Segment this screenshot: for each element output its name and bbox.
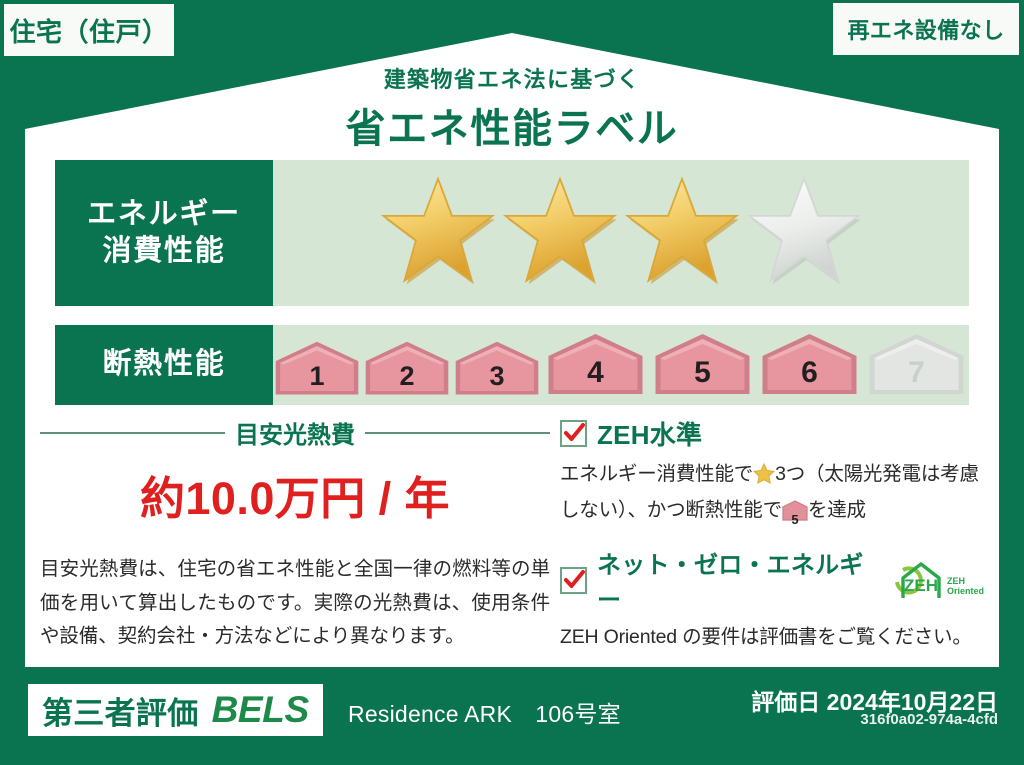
zeh-logo-sub-line2: Oriented [947,587,984,596]
zeh-column: ZEH水準 エネルギー消費性能で 3つ（太陽光発電は考慮しない）、かつ断熱性能で… [560,415,984,660]
checkmark-icon [560,567,587,594]
star-rating [378,173,864,294]
insulation-level-6: 6 [757,332,862,398]
house-level-icon: 5 [782,500,808,532]
insulation-level-7: 7 [864,332,969,398]
insulation-level-number: 6 [757,356,862,390]
energy-performance-label: 住宅（住戸） 再エネ設備なし 建築物省エネ法に基づく 省エネ性能ラベル エネルギ… [0,0,1024,765]
insulation-performance-row: 断熱性能 1234567 [55,325,969,405]
insulation-level-4: 4 [543,332,648,398]
zeh-standard-description: エネルギー消費性能で 3つ（太陽光発電は考慮しない）、かつ断熱性能で 5 を達成 [560,459,984,531]
zeh-desc-part1: エネルギー消費性能で [560,463,753,485]
insulation-level-5: 5 [650,332,755,398]
utility-cost-column: 目安光熱費 約10.0万円 / 年 目安光熱費は、住宅の省エネ性能と全国一律の燃… [40,415,550,654]
building-name: Residence ARK 106号室 [348,695,621,729]
star-icon-filled [622,173,742,294]
insulation-performance-label-key: 断熱性能 [55,325,273,405]
lower-content: 目安光熱費 約10.0万円 / 年 目安光熱費は、住宅の省エネ性能と全国一律の燃… [40,415,984,655]
net-zero-block: ネット・ゼロ・エネルギー ZEH ZEH Oriented [560,545,984,654]
zeh-standard-heading: ZEH水準 [560,415,984,452]
badge-renewable-equipment: 再エネ設備なし [833,3,1019,55]
insulation-level-number: 5 [650,356,755,390]
utility-cost-note: 目安光熱費は、住宅の省エネ性能と全国一律の燃料等の単価を用いて算出したものです。… [40,553,550,654]
insulation-level-number: 7 [864,356,969,390]
heading-rule-left [40,432,225,434]
insulation-level-1: 1 [273,340,361,398]
energy-key-line1: エネルギー [87,196,241,233]
energy-key-line2: 消費性能 [103,233,226,270]
energy-performance-row: エネルギー 消費性能 [55,160,969,306]
subtitle: 建築物省エネ法に基づく [0,62,1024,94]
badge-renewable-label: 再エネ設備なし [847,13,1004,45]
insulation-level-number: 2 [363,361,451,392]
heading-rule-right [365,432,550,434]
zeh-standard-block: ZEH水準 エネルギー消費性能で 3つ（太陽光発電は考慮しない）、かつ断熱性能で… [560,415,984,531]
zeh-oriented-logo: ZEH ZEH Oriented [891,560,984,600]
net-zero-description: ZEH Oriented の要件は評価書をご覧ください。 [560,622,984,654]
zeh-desc-part3: を達成 [808,499,866,521]
insulation-performance-rating: 1234567 [273,325,969,405]
utility-cost-amount: 約10.0万円 / 年 [40,462,550,527]
star-icon-filled [500,173,620,294]
bels-badge: 第三者評価 BELS [28,684,323,736]
energy-performance-label-key: エネルギー 消費性能 [55,160,273,306]
svg-text:ZEH: ZEH [904,576,938,595]
insulation-level-number: 1 [273,361,361,392]
house-level-number: 5 [782,509,808,530]
insulation-level-number: 4 [543,356,648,390]
evaluation-id: 316f0a02-974a-4cfd [860,711,998,728]
net-zero-title: ネット・ゼロ・エネルギー [597,545,877,615]
net-zero-heading: ネット・ゼロ・エネルギー ZEH ZEH Oriented [560,545,984,615]
insulation-level-scale: 1234567 [273,332,969,398]
footer-bar: 第三者評価 BELS Residence ARK 106号室 評価日 2024年… [0,667,1024,765]
energy-performance-rating [273,160,969,306]
zeh-standard-title: ZEH水準 [597,415,702,452]
page-title: 省エネ性能ラベル [0,96,1024,154]
insulation-level-3: 3 [453,340,541,398]
bels-japanese-label: 第三者評価 [42,688,199,733]
utility-cost-heading: 目安光熱費 [40,415,550,450]
utility-cost-heading-label: 目安光熱費 [235,415,355,450]
bels-logo-text: BELS [212,689,309,731]
star-icon-empty [744,173,864,294]
insulation-level-2: 2 [363,340,451,398]
badge-dwelling-type: 住宅（住戸） [4,4,174,56]
insulation-level-number: 3 [453,361,541,392]
star-icon [753,463,775,495]
insulation-key-label: 断熱性能 [103,346,226,383]
checkmark-icon [560,420,587,447]
star-icon-filled [378,173,498,294]
badge-dwelling-label: 住宅（住戸） [9,12,168,49]
